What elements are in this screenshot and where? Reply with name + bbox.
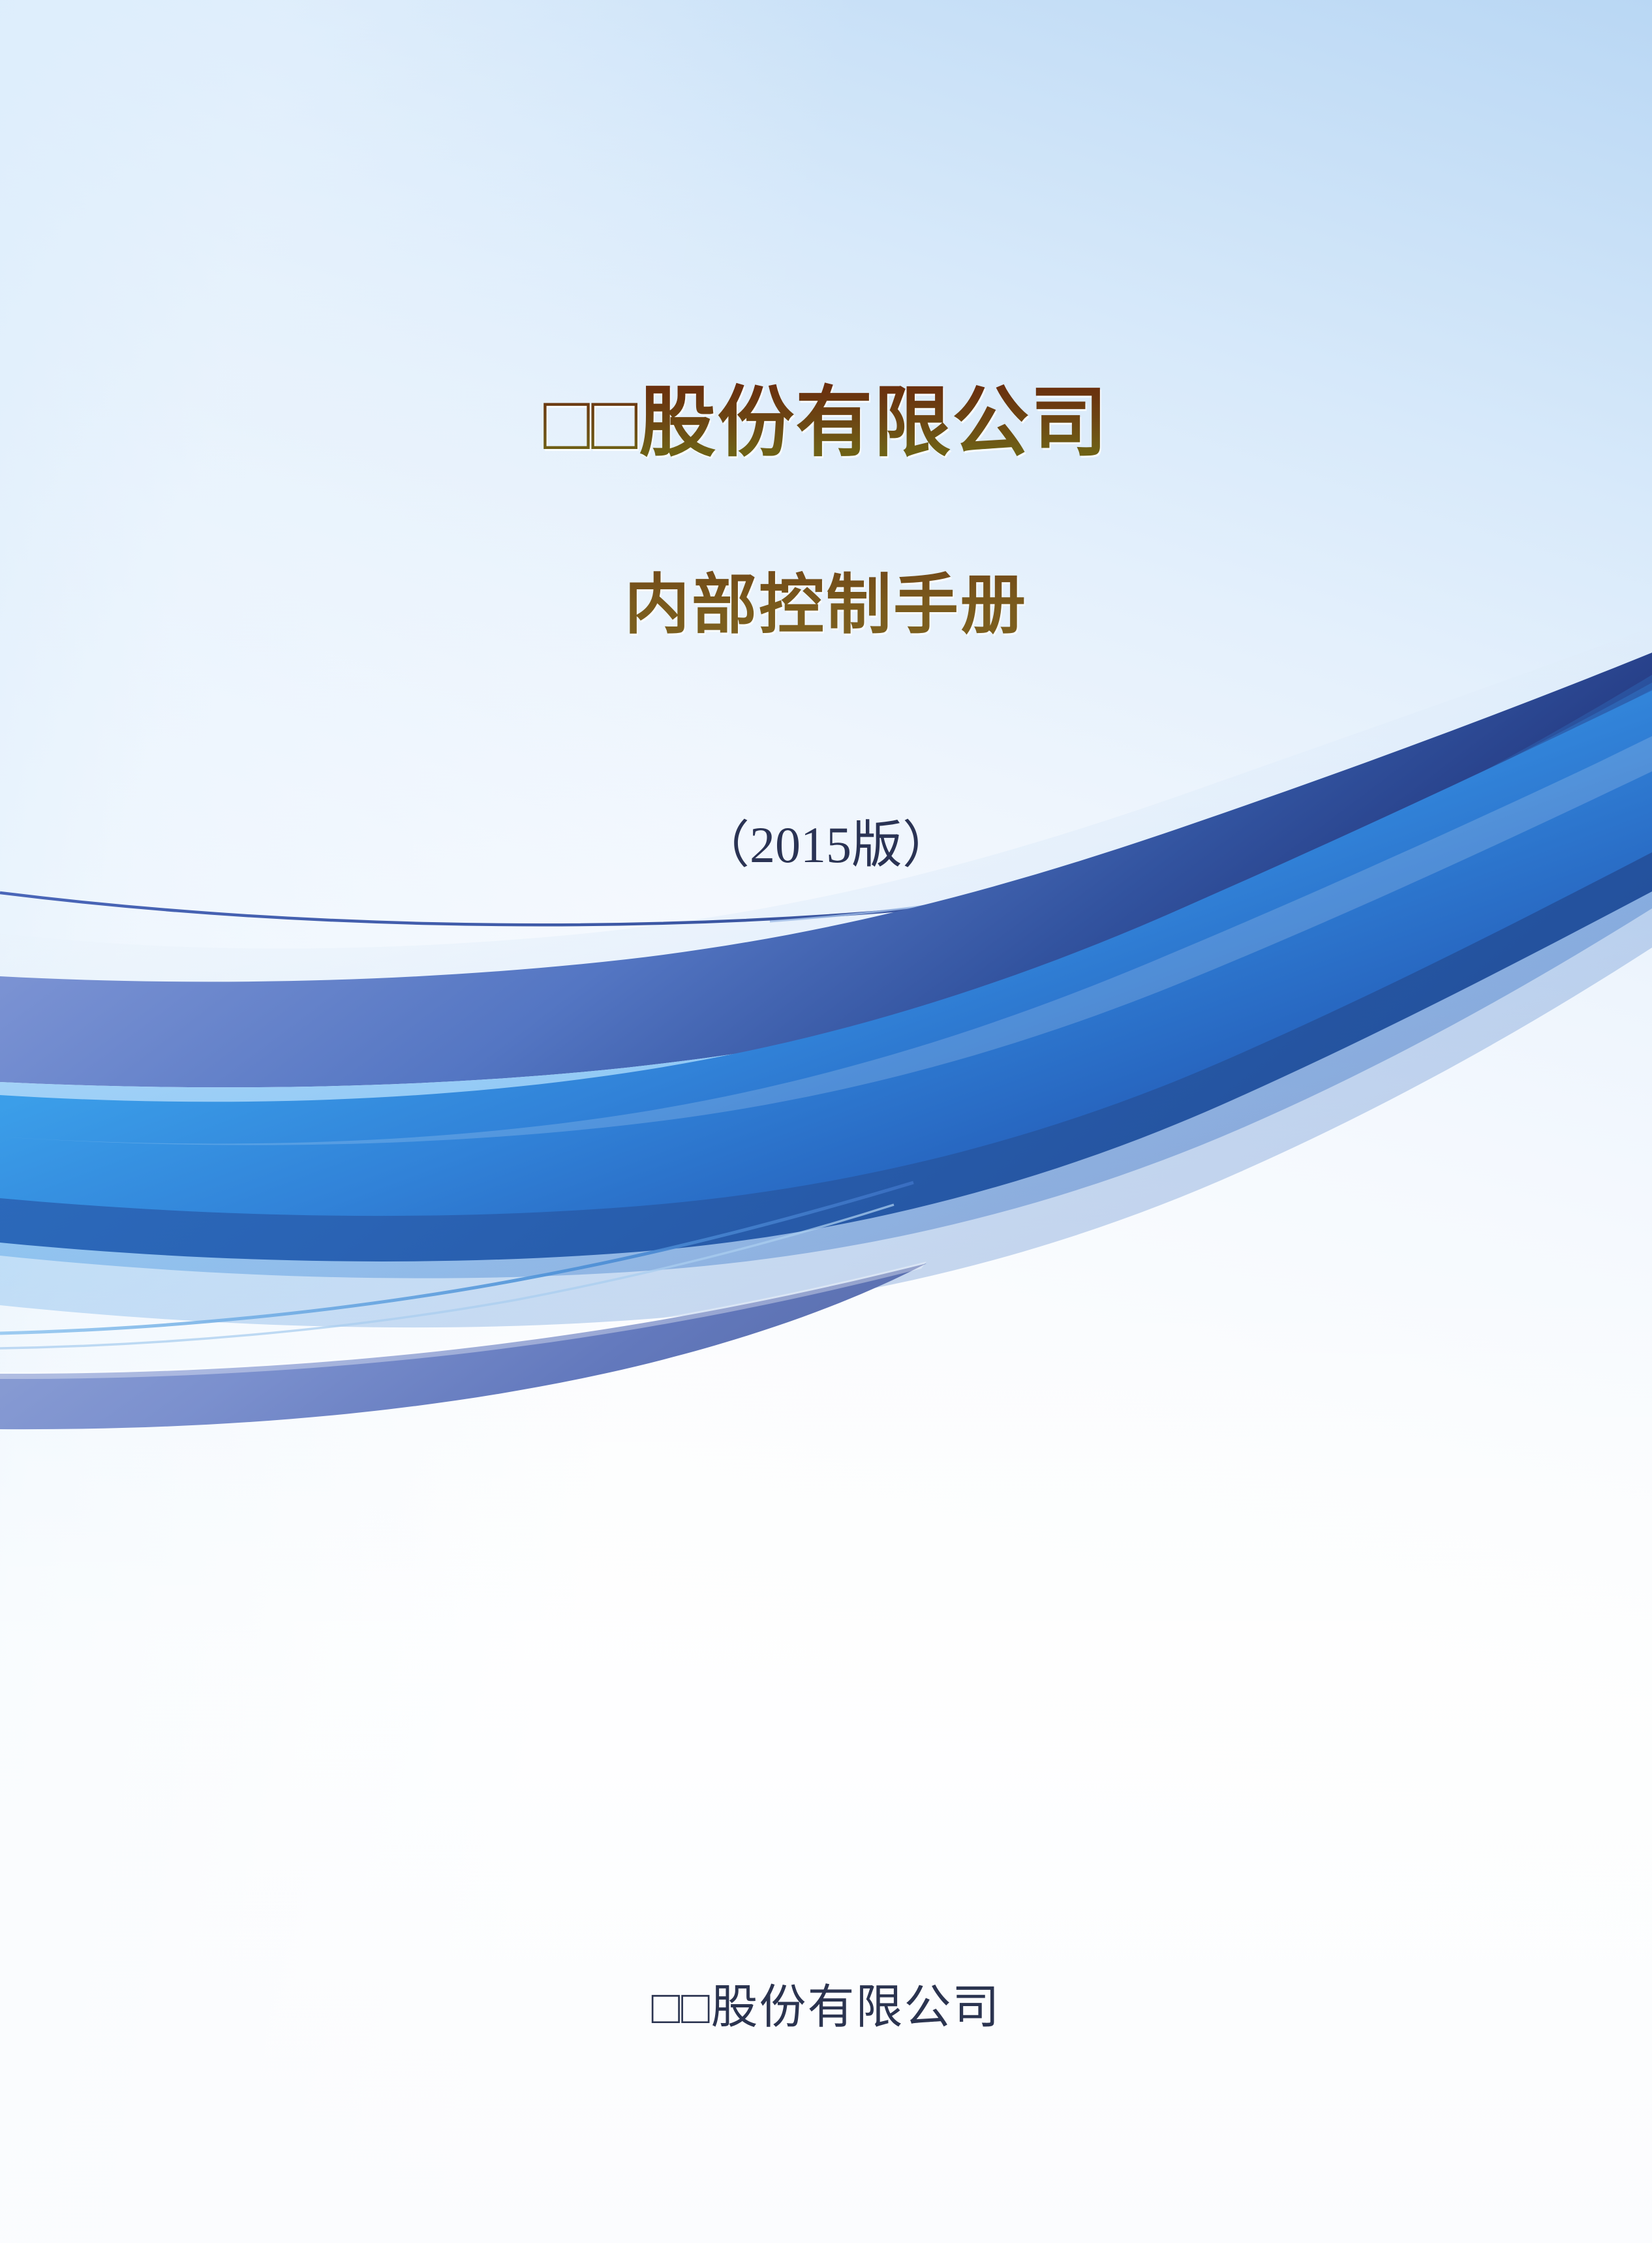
footer-company-name: □□股份有限公司 <box>0 1968 1652 2037</box>
cover-text-layer: □□股份有限公司 内部控制手册 （2015版） □□股份有限公司 <box>0 0 1652 2243</box>
cover-page: □□股份有限公司 内部控制手册 （2015版） □□股份有限公司 <box>0 0 1652 2243</box>
version-label: （2015版） <box>0 804 1652 877</box>
page-subtitle: 内部控制手册 <box>0 551 1652 646</box>
page-title: □□股份有限公司 <box>0 379 1652 468</box>
